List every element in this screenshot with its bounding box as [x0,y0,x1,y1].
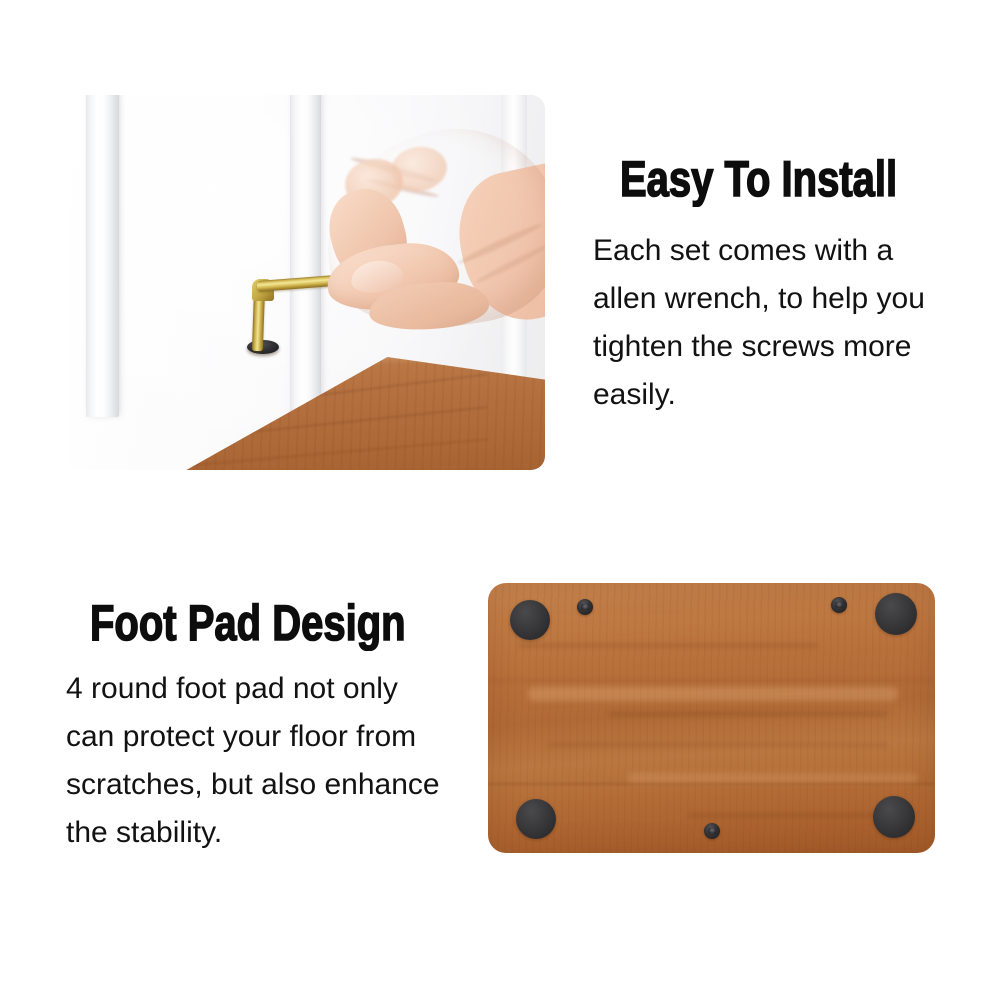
foot-pad-top-right [875,593,917,635]
wood-seam-lower [488,783,935,786]
white-pole-right [290,95,321,422]
foot-pad-bottom-right [873,796,915,838]
screw-bottom-center [704,823,720,839]
foot-pad-top-left [510,600,550,640]
wood-seam-upper [488,679,935,683]
heading-foot-pad-design: Foot Pad Design [90,594,406,652]
infographic-page: Easy To Install Each set comes with a al… [0,0,1000,1000]
photo-easy-to-install [69,95,545,470]
foot-pad-bottom-left [516,799,556,839]
screw-top-right [831,597,847,613]
body-foot-pad-design: 4 round foot pad not only can protect yo… [66,665,486,857]
photo-foot-pad-design [488,583,935,853]
screw-top-left [577,599,593,615]
white-pole-left [86,95,119,417]
body-easy-to-install: Each set comes with a allen wrench, to h… [593,227,965,419]
heading-easy-to-install: Easy To Install [620,150,897,208]
